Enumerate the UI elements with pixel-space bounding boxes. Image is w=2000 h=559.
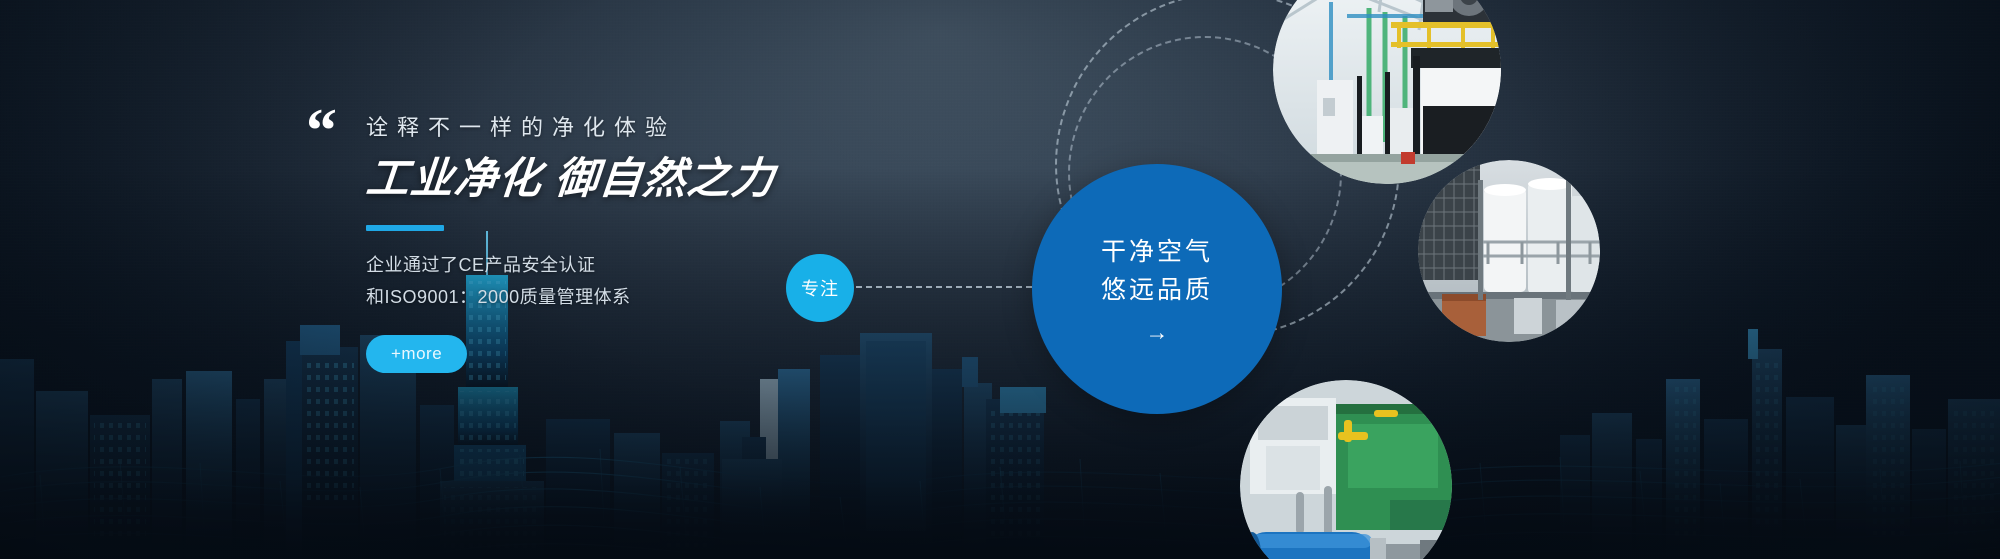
city-skyline-graphic bbox=[0, 229, 2000, 559]
hero-subtitle: 诠释不一样的净化体验 bbox=[366, 110, 886, 142]
photo-circle-purification-equipment bbox=[1418, 160, 1600, 342]
focus-badge[interactable]: 专注 bbox=[786, 254, 854, 322]
arrow-right-icon: → bbox=[1146, 321, 1169, 344]
main-circle-line-2: 悠远品质 bbox=[1101, 272, 1213, 310]
quote-mark-icon: “ bbox=[306, 100, 335, 162]
hero-headline: 工业净化 御自然之力 bbox=[364, 156, 888, 203]
hero-copy-block: “ 诠释不一样的净化体验 工业净化 御自然之力 企业通过了CE产品安全认证 和I… bbox=[366, 110, 886, 373]
more-button[interactable]: +more bbox=[366, 335, 467, 373]
main-circle-line-1: 干净空气 bbox=[1101, 234, 1213, 272]
focus-badge-label: 专注 bbox=[801, 275, 839, 301]
accent-rule bbox=[366, 225, 444, 231]
main-cta-circle[interactable]: 干净空气 悠远品质 → bbox=[1032, 164, 1282, 414]
hero-banner: “ 诠释不一样的净化体验 工业净化 御自然之力 企业通过了CE产品安全认证 和I… bbox=[0, 0, 2000, 559]
